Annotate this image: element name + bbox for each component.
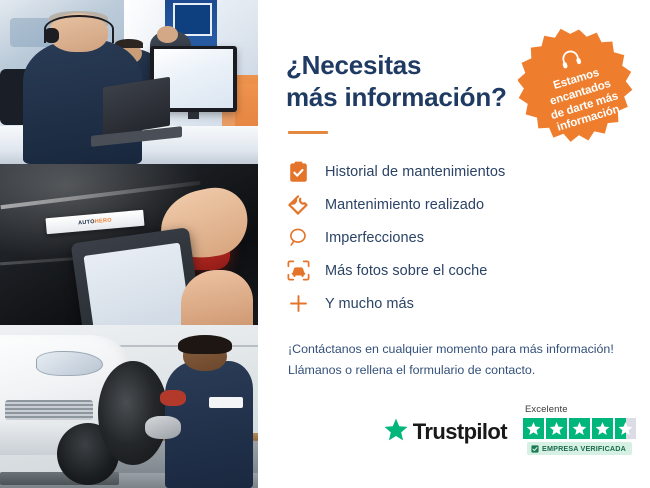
photo-person-back-head bbox=[157, 26, 178, 42]
trustpilot-logo[interactable]: Trustpilot bbox=[383, 417, 507, 455]
content-panel: ¿Necesitas más información? Historial de… bbox=[258, 0, 650, 488]
photo-inspection-ruler-on-car-with-tablet: AUTOHERO bbox=[0, 164, 258, 325]
trustpilot-rating-label: Excelente bbox=[525, 404, 568, 415]
photo-front-tire bbox=[98, 361, 168, 465]
contact-text: ¡Contáctanos en cualquier momento para m… bbox=[288, 339, 650, 379]
photo-tool-in-hand bbox=[160, 390, 186, 406]
feature-list: Historial de mantenimientos Mantenimient… bbox=[286, 155, 650, 320]
photo-column: AUTOHERO bbox=[0, 0, 258, 488]
feature-label: Historial de mantenimientos bbox=[325, 164, 505, 180]
trustpilot-star-rating bbox=[523, 418, 636, 439]
star-filled-icon bbox=[569, 418, 590, 439]
star-half-icon bbox=[615, 418, 636, 439]
verified-company-badge: EMPRESA VERIFICADA bbox=[527, 442, 632, 455]
star-filled-icon bbox=[523, 418, 544, 439]
photo-grille bbox=[5, 400, 93, 420]
photo-mechanic-glove bbox=[145, 416, 181, 439]
contact-line-2: Llámanos o rellena el formulario de cont… bbox=[288, 360, 650, 380]
feature-item-imperfections: Imperfecciones bbox=[286, 221, 650, 254]
trustpilot-widget[interactable]: Trustpilot Excelente bbox=[286, 404, 636, 455]
tools-icon bbox=[286, 193, 310, 217]
feature-item-maintenance-history: Historial de mantenimientos bbox=[286, 155, 650, 188]
photo-mechanic-hair bbox=[178, 335, 232, 355]
checkbox-check-icon bbox=[531, 445, 539, 453]
feature-label: Imperfecciones bbox=[325, 230, 424, 246]
verified-company-label: EMPRESA VERIFICADA bbox=[542, 444, 626, 453]
star-filled-icon bbox=[546, 418, 567, 439]
photo-laptop bbox=[103, 77, 170, 137]
starburst-badge: Estamos encantados de darte más informac… bbox=[518, 27, 640, 149]
title-underline-rule bbox=[288, 131, 328, 134]
headline-line-2: más información? bbox=[286, 82, 507, 112]
photo-ruler-brand-text: AUTOHERO bbox=[78, 217, 112, 226]
clipboard-check-icon bbox=[286, 160, 310, 184]
photo-hand-holding-tablet bbox=[181, 270, 253, 325]
car-photo-frame-icon bbox=[286, 259, 310, 283]
magnifier-icon bbox=[286, 226, 310, 250]
star-filled-icon bbox=[592, 418, 613, 439]
trustpilot-star-icon bbox=[383, 417, 409, 447]
contact-line-1: ¡Contáctanos en cualquier momento para m… bbox=[288, 339, 650, 359]
feature-label: Mantenimiento realizado bbox=[325, 197, 484, 213]
feature-item-maintenance-done: Mantenimiento realizado bbox=[286, 188, 650, 221]
photo-mechanic-logo-badge bbox=[209, 397, 243, 408]
photo-agent-earpad bbox=[44, 28, 59, 43]
photo-mechanic-inspecting-wheel-on-lift bbox=[0, 325, 258, 488]
information-banner: AUTOHERO bbox=[0, 0, 650, 488]
headline-line-1: ¿Necesitas bbox=[286, 50, 421, 80]
plus-icon bbox=[286, 292, 310, 316]
starburst-shape bbox=[518, 27, 640, 149]
feature-item-more-photos: Más fotos sobre el coche bbox=[286, 254, 650, 287]
photo-call-center-agents-with-headsets bbox=[0, 0, 258, 164]
feature-item-much-more: Y mucho más bbox=[286, 287, 650, 320]
photo-headlight bbox=[36, 351, 103, 375]
feature-label: Más fotos sobre el coche bbox=[325, 263, 487, 279]
trustpilot-wordmark: Trustpilot bbox=[413, 419, 507, 445]
trustpilot-rating[interactable]: Excelente bbox=[523, 404, 636, 455]
feature-label: Y mucho más bbox=[325, 296, 414, 312]
